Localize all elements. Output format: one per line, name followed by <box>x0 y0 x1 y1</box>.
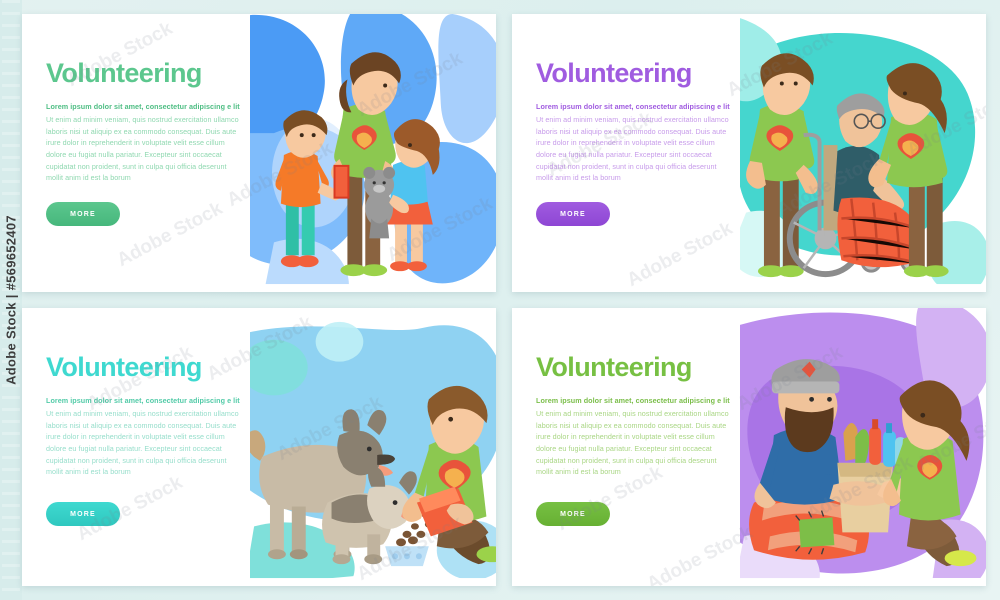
panel-title: Volunteering <box>46 60 259 87</box>
copy-block-elderly: Volunteering Lorem ipsum dolor sit amet,… <box>512 14 749 292</box>
panel-animals[interactable]: Volunteering Lorem ipsum dolor sit amet,… <box>22 308 496 586</box>
panel-title: Volunteering <box>46 354 259 381</box>
panel-homeless[interactable]: Volunteering Lorem ipsum dolor sit amet,… <box>512 308 986 586</box>
panel-lead: Lorem ipsum dolor sit amet, consectetur … <box>536 101 749 112</box>
stock-id-label: Adobe Stock | #569652407 <box>4 215 19 385</box>
panel-body: Ut enim ad minim veniam, quis nostrud ex… <box>536 114 732 184</box>
panel-body: Ut enim ad minim veniam, quis nostrud ex… <box>536 408 732 478</box>
illustration-elderly <box>740 14 986 292</box>
panel-lead: Lorem ipsum dolor sit amet, consectetur … <box>536 395 749 406</box>
illustration-sheet: Adobe Stock | #569652407 <box>0 0 1000 600</box>
illustration-children <box>250 14 496 292</box>
illustration-homeless <box>740 308 986 586</box>
panel-title: Volunteering <box>536 60 749 87</box>
illustration-animals <box>250 308 496 586</box>
copy-block-homeless: Volunteering Lorem ipsum dolor sit amet,… <box>512 308 749 586</box>
panel-body: Ut enim ad minim veniam, quis nostrud ex… <box>46 114 242 184</box>
panel-lead: Lorem ipsum dolor sit amet, consectetur … <box>46 395 259 406</box>
panel-children[interactable]: Volunteering Lorem ipsum dolor sit amet,… <box>22 14 496 292</box>
panel-elderly[interactable]: Volunteering Lorem ipsum dolor sit amet,… <box>512 14 986 292</box>
panel-grid: Volunteering Lorem ipsum dolor sit amet,… <box>22 14 986 586</box>
adobe-stock-rail: Adobe Stock | #569652407 <box>0 0 22 600</box>
copy-block-animals: Volunteering Lorem ipsum dolor sit amet,… <box>22 308 259 586</box>
panel-title: Volunteering <box>536 354 749 381</box>
panel-lead: Lorem ipsum dolor sit amet, consectetur … <box>46 101 259 112</box>
panel-body: Ut enim ad minim veniam, quis nostrud ex… <box>46 408 242 478</box>
copy-block-children: Volunteering Lorem ipsum dolor sit amet,… <box>22 14 259 292</box>
